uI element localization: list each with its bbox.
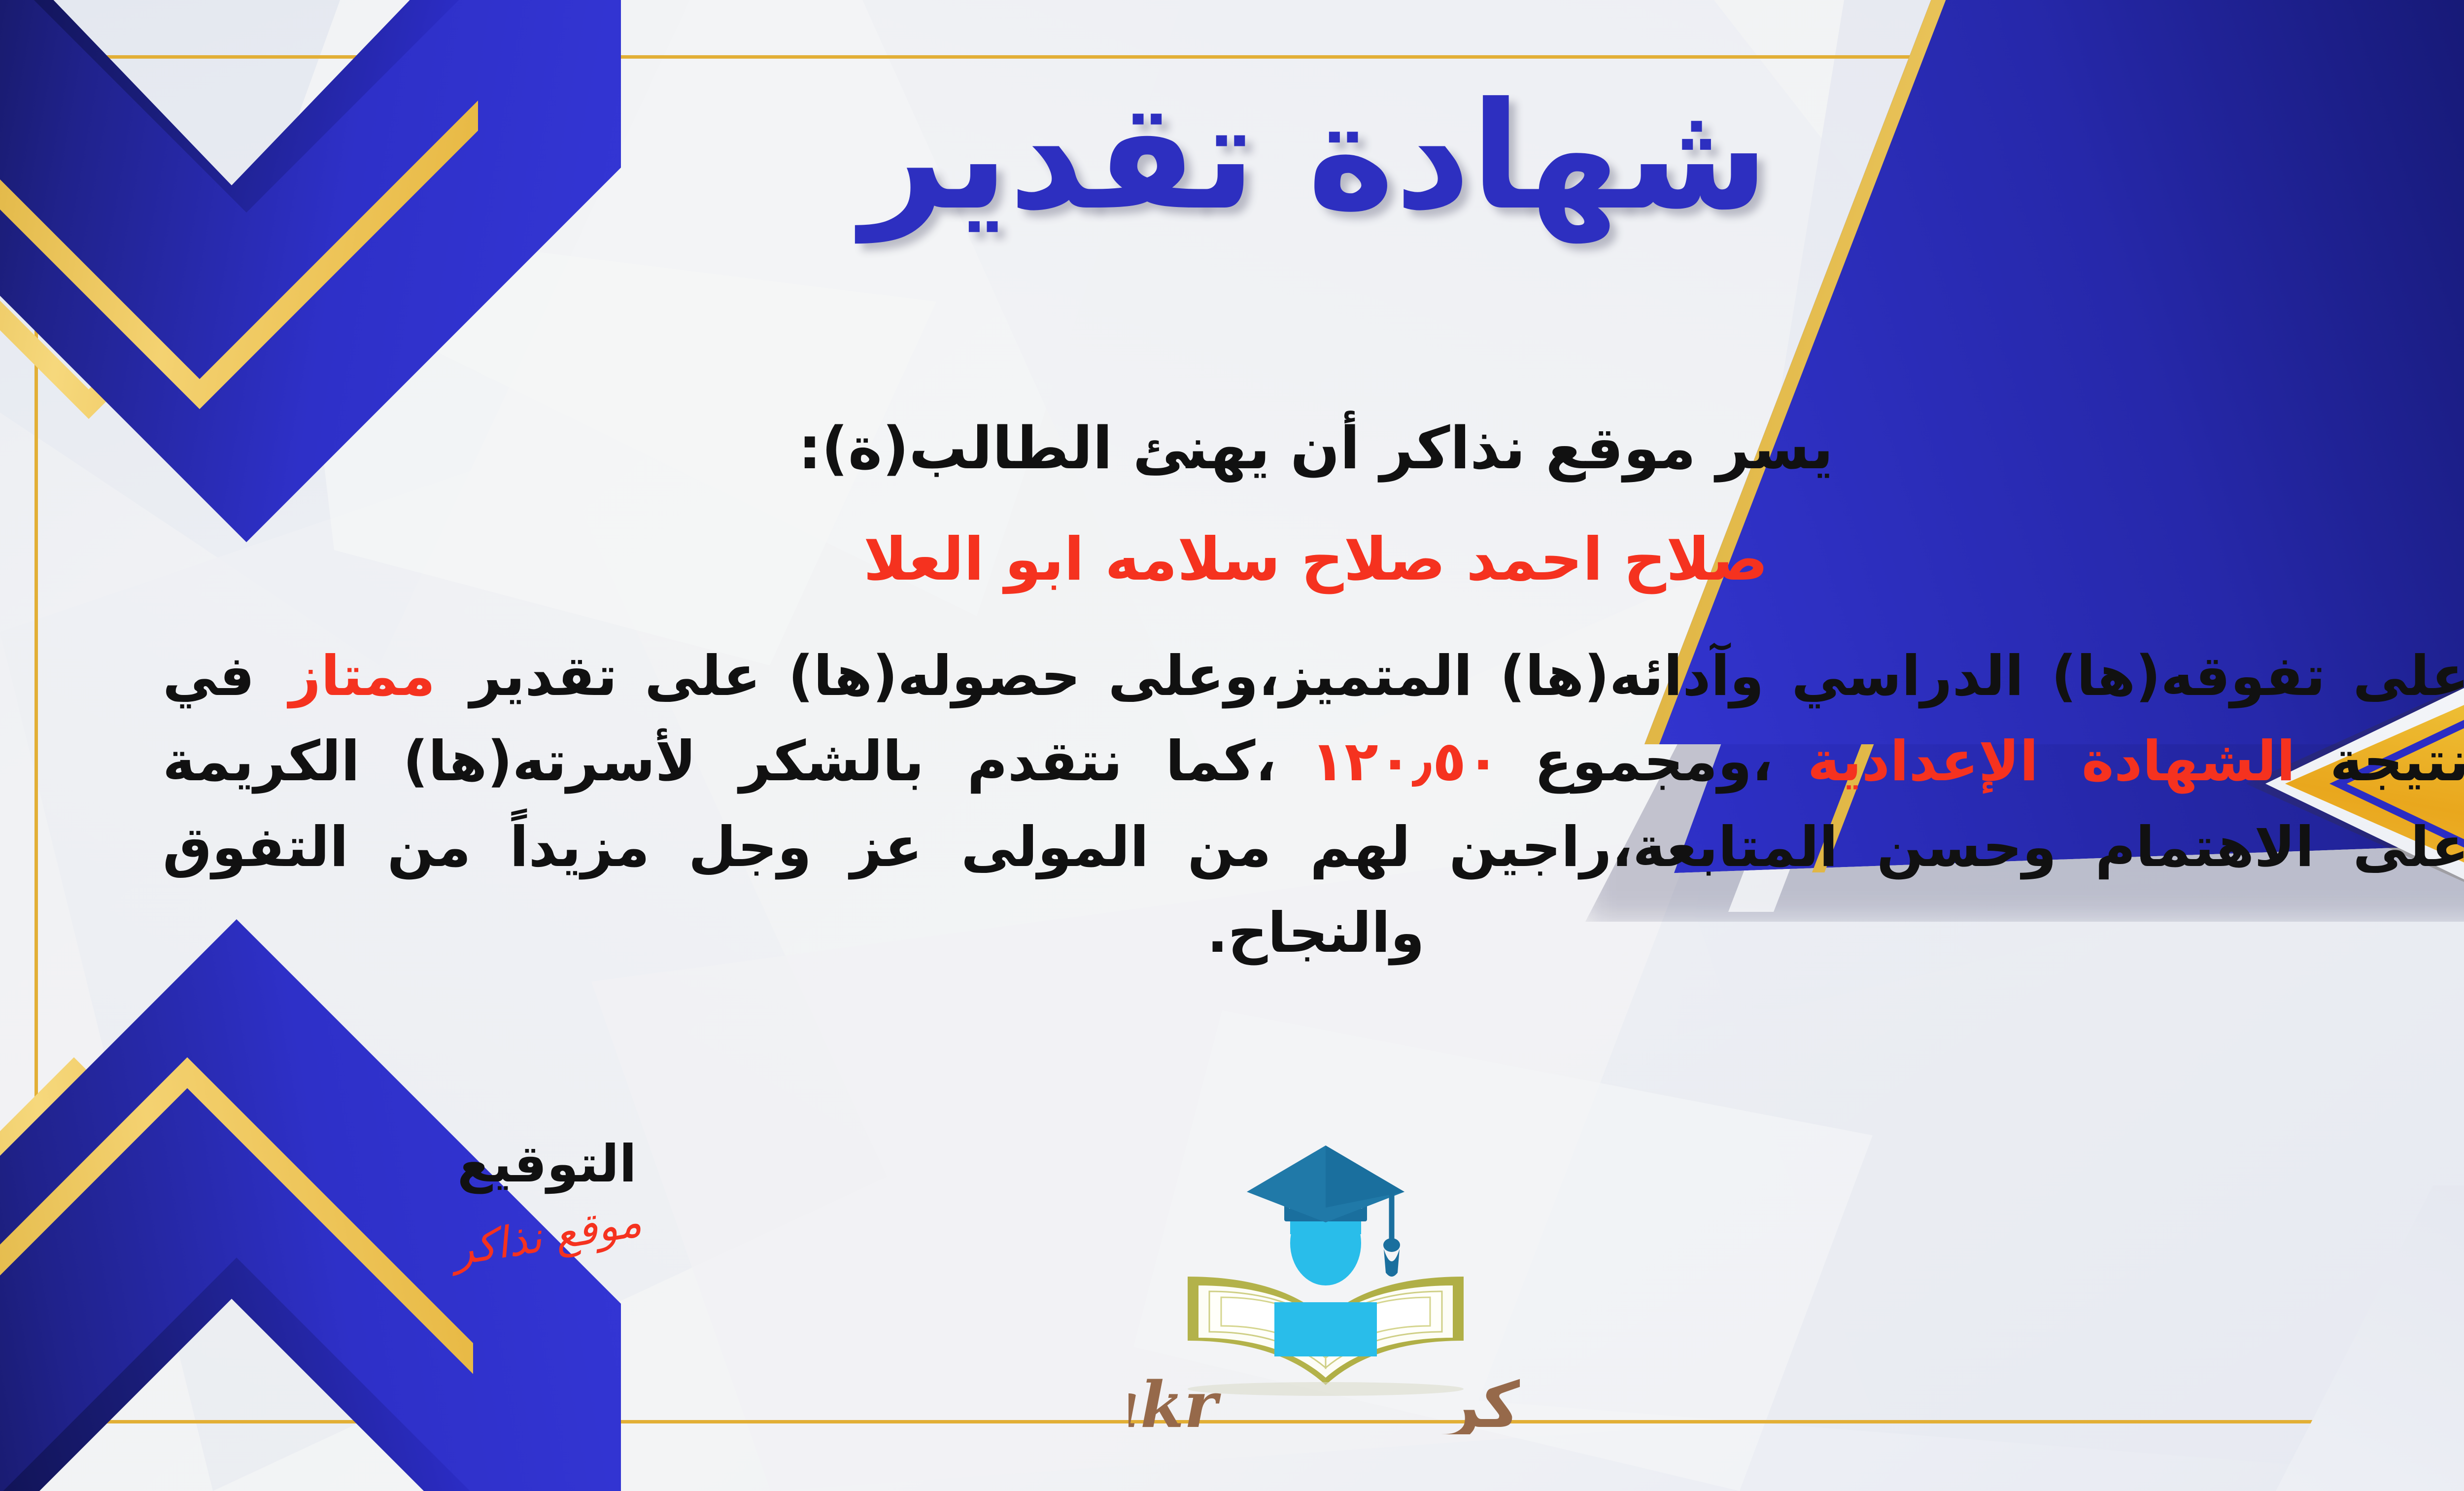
citation-segment-3: ،ومجموع [1535, 729, 1773, 794]
nezakr-logo: Nezakr نذاكر [1129, 1129, 1523, 1434]
certificate-canvas: شهادة تقدير يسر موقع نذاكر أن يهنئ الطال… [0, 0, 2464, 1491]
logo-latin-name: Nezakr [1129, 1368, 1222, 1434]
student-name: صلاح احمد صلاح سلامه ابو العلا [163, 515, 2464, 605]
certificate-title: شهادة تقدير [0, 79, 2464, 234]
logo-arabic-name: نذاكر [1441, 1369, 1523, 1434]
graduate-figure-icon [1274, 1201, 1377, 1356]
signature-label: التوقيع [375, 1134, 719, 1194]
intro-line: يسر موقع نذاكر أن يهنئ الطالب(ة): [163, 404, 2464, 492]
citation-segment-1: على تفوقه(ها) الدراسي وآدائه(ها) المتميز… [470, 644, 2464, 708]
certificate-body: يسر موقع نذاكر أن يهنئ الطالب(ة): صلاح ا… [163, 404, 2464, 976]
grade-value: ممتاز [289, 644, 436, 708]
signature-mark: موقع نذاكر [449, 1197, 645, 1275]
signature-block: التوقيع موقع نذاكر [375, 1134, 719, 1261]
certificate-content: شهادة تقدير يسر موقع نذاكر أن يهنئ الطال… [0, 0, 2464, 1491]
citation-paragraph: على تفوقه(ها) الدراسي وآدائه(ها) المتميز… [163, 634, 2464, 976]
total-score: ١٢٠٫٥٠ [1311, 729, 1500, 794]
exam-name: الشهادة الإعدادية [1808, 729, 2295, 794]
